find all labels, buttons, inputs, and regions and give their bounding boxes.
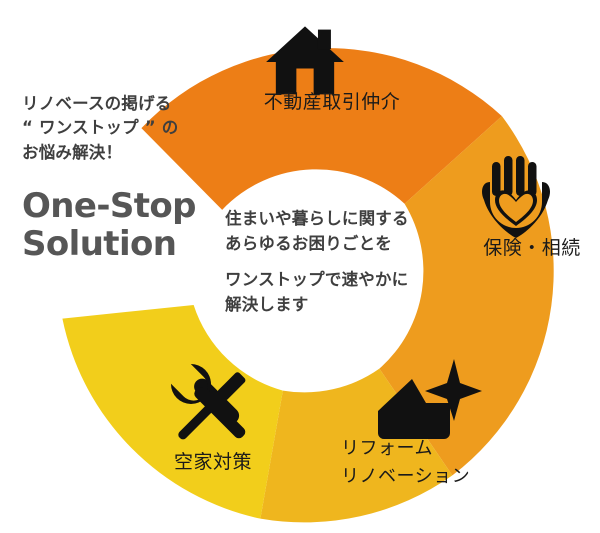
center-spacer (225, 256, 455, 267)
center-description-block: 住まいや暮らしに関する あらゆるお困りごとを ワンストップで速やかに 解決します (225, 206, 455, 317)
lead-line-2: “ ワンストップ ” の (22, 116, 237, 140)
intro-text-block: リノベースの掲げる “ ワンストップ ” の お悩み解決！ One-Stop S… (22, 92, 237, 264)
page-title: One-Stop Solution (22, 187, 237, 264)
segment-label-vacant-house: 空家対策 (174, 451, 252, 473)
center-line-1: 住まいや暮らしに関する (225, 206, 455, 231)
center-line-3: ワンストップで速やかに (225, 267, 455, 292)
lead-line-3: お悩み解決！ (22, 141, 237, 165)
center-line-2: あらゆるお困りごとを (225, 231, 455, 256)
donut-segment-vacant-house[interactable] (62, 305, 282, 519)
headline-line-1: One-Stop (22, 187, 237, 225)
segment-label-renovation-line2: リノベーション (341, 466, 470, 487)
segment-label-real-estate: 不動産取引仲介 (264, 91, 401, 113)
headline-line-2: Solution (22, 225, 237, 263)
one-stop-solution-infographic: 不動産取引仲介 保険・相続 リフォーム リノベーション 空家対策 リノベースの掲… (0, 0, 600, 533)
segment-label-renovation-line1: リフォーム (341, 438, 433, 459)
segment-label-insurance: 保険・相続 (483, 237, 581, 259)
lead-line-1: リノベースの掲げる (22, 92, 237, 116)
center-line-4: 解決します (225, 292, 455, 317)
